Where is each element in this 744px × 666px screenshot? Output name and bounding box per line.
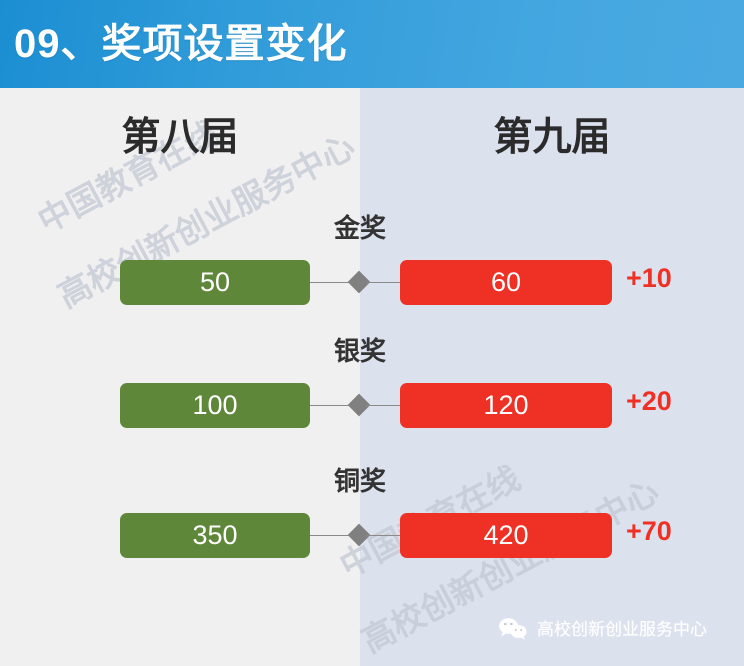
current-value-text: 60 (491, 269, 521, 296)
wechat-icon (498, 617, 528, 641)
current-value-text: 420 (483, 522, 528, 549)
connector-line-right (366, 405, 400, 406)
previous-value-text: 350 (192, 522, 237, 549)
comparison-row: 铜奖 350 420 +70 (0, 468, 744, 578)
page-title: 09、奖项设置变化 (14, 24, 348, 64)
previous-value-text: 50 (200, 269, 230, 296)
previous-value-bar: 50 (120, 260, 310, 305)
column-header-current: 第九届 (360, 118, 744, 157)
slide-canvas: 09、奖项设置变化 中国教育在线 高校创新创业服务中心 中国教育在线 高校创新创… (0, 0, 744, 666)
current-value-bar: 120 (400, 383, 612, 428)
previous-value-bar: 100 (120, 383, 310, 428)
footer-brand: 高校创新创业服务中心 (498, 617, 707, 641)
award-label: 银奖 (260, 338, 460, 364)
column-header-previous: 第八届 (0, 118, 360, 157)
current-value-bar: 420 (400, 513, 612, 558)
delta-label: +10 (626, 265, 672, 292)
connector-line-right (366, 282, 400, 283)
comparison-row: 银奖 100 120 +20 (0, 338, 744, 448)
award-label: 金奖 (260, 215, 460, 241)
current-value-bar: 60 (400, 260, 612, 305)
delta-label: +70 (626, 518, 672, 545)
delta-label: +20 (626, 388, 672, 415)
footer-brand-text: 高校创新创业服务中心 (537, 621, 707, 638)
header-banner: 09、奖项设置变化 (0, 0, 744, 88)
previous-value-text: 100 (192, 392, 237, 419)
award-label: 铜奖 (260, 468, 460, 494)
comparison-row: 金奖 50 60 +10 (0, 215, 744, 325)
connector-line-right (366, 535, 400, 536)
current-value-text: 120 (483, 392, 528, 419)
previous-value-bar: 350 (120, 513, 310, 558)
